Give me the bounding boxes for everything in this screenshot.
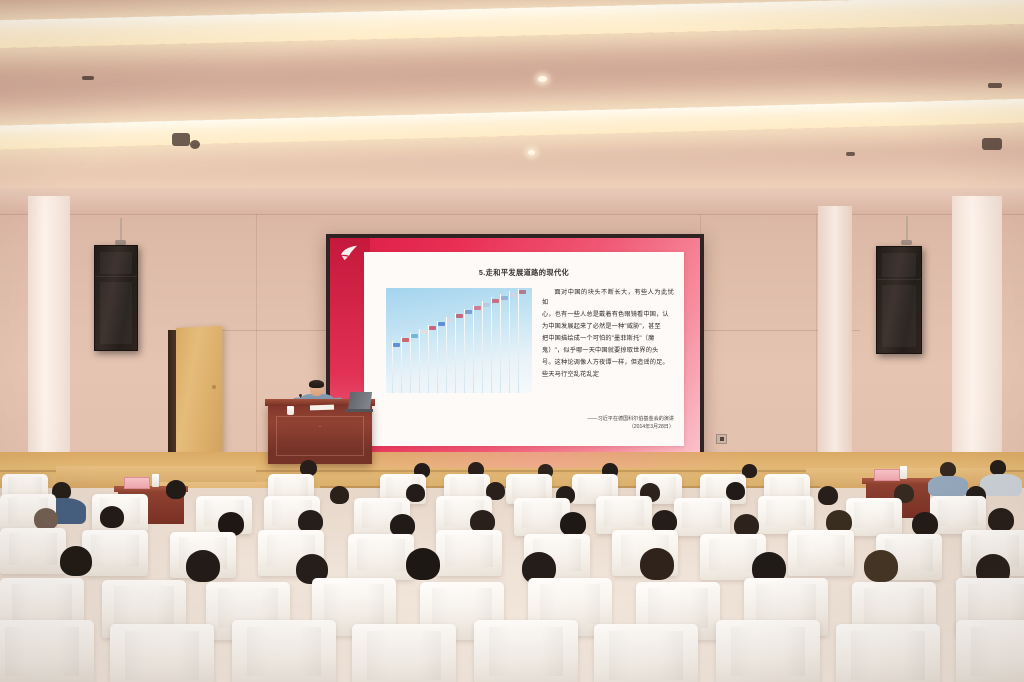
projection-screen: 5.走和平发展道路的现代化 (326, 234, 704, 464)
slide-attribution: ——习近平在德国科尔伯基金会的演讲 （2014年3月28日） (587, 415, 674, 432)
chair[interactable] (846, 498, 902, 536)
chair[interactable] (82, 530, 148, 576)
presenter-desk (268, 404, 372, 464)
wall-outlet-icon (716, 434, 727, 444)
attendee-head (186, 550, 220, 582)
slide-body-line-1: 心，也有一些人总是戴着有色眼镜看中国，认 (542, 310, 674, 320)
chair[interactable] (836, 624, 940, 682)
chair[interactable] (716, 620, 820, 682)
attendee-head (940, 462, 956, 477)
slide-content-card: 5.走和平发展道路的现代化 (364, 252, 684, 446)
laptop-base[interactable] (345, 409, 373, 412)
slide-attribution-source: ——习近平在德国科尔伯基金会的演讲 (587, 415, 674, 424)
slide-attribution-date: （2014年3月28日） (587, 423, 674, 432)
conference-hall-photo: 5.走和平发展道路的现代化 (0, 0, 1024, 682)
slide-photo-flags (386, 288, 532, 393)
chair[interactable] (0, 528, 66, 574)
slide-body-line-0: 面对中国的块头不断长大，有些人为此忧如 (542, 288, 674, 307)
slide-body-line-4: 鬼）"，似乎哪一天中国就要掠取世界的头 (542, 346, 674, 356)
right-speaker-mount (901, 240, 912, 245)
slide-body-line-3: 把中国描绘成一个可怕的"墨菲斯托"（魔 (542, 334, 674, 344)
attendee-head (864, 550, 898, 582)
ceiling-light-strip-2 (0, 97, 1024, 150)
attendee-head (166, 480, 186, 499)
ceiling-fixture-right (988, 83, 1002, 88)
column-right (952, 196, 1002, 464)
attendee-shoulders (980, 474, 1022, 496)
slide-body-text: 面对中国的块头不断长大，有些人为此忧如 心，也有一些人总是戴着有色眼镜看中国，认… (542, 288, 674, 382)
chair[interactable] (110, 624, 214, 682)
ceiling-speaker-mount-right (982, 138, 1002, 150)
attendee-head (100, 506, 124, 528)
attendee-head (34, 508, 58, 530)
chair[interactable] (594, 624, 698, 682)
cup-right-desk (900, 466, 907, 479)
door-knob-icon[interactable] (212, 385, 216, 389)
column-left (28, 196, 70, 464)
attendee-head (988, 508, 1014, 532)
ceiling-camera-icon (190, 140, 200, 149)
slide-title: 5.走和平发展道路的现代化 (364, 268, 684, 278)
attendee-head (990, 460, 1006, 475)
wall-panel-line-3 (816, 214, 817, 458)
chair[interactable] (0, 620, 94, 682)
ceiling-fixture-left (82, 76, 94, 80)
chair[interactable] (956, 620, 1024, 682)
chair[interactable] (674, 498, 730, 536)
attendee-head (560, 512, 586, 536)
chair[interactable] (596, 496, 652, 534)
chair[interactable] (788, 530, 854, 576)
slide-body-line-2: 为中国发展起来了必然是一种"威胁"，甚至 (542, 322, 674, 332)
wall-seam-top (0, 214, 1024, 215)
attendee-head (406, 548, 440, 580)
chair[interactable] (348, 534, 414, 580)
wall-upper-band (0, 188, 1024, 214)
left-speaker-bracket (120, 218, 122, 242)
loudspeaker-left (94, 245, 138, 351)
chair[interactable] (758, 496, 814, 534)
wall-panel-line-1 (256, 214, 257, 454)
dove-icon (338, 244, 360, 262)
column-right-mid (818, 206, 852, 464)
chair[interactable] (352, 624, 456, 682)
desk-papers (310, 405, 334, 411)
attendee-head (640, 548, 674, 580)
slide-body-line-6: 些天马行空乱花乱定 (542, 370, 674, 380)
water-cup (287, 406, 294, 415)
attendee-head (60, 546, 92, 576)
chair[interactable] (474, 620, 578, 682)
slide-body-line-5: 号。这种论调像人方夜谭一样，但造谣的足。 (542, 358, 674, 368)
stage-door[interactable] (176, 326, 222, 454)
chair[interactable] (436, 530, 502, 576)
namecard-right (874, 469, 900, 481)
ceiling-projector-mount (172, 133, 190, 146)
desk-panel (276, 416, 364, 456)
right-speaker-bracket (906, 216, 908, 242)
loudspeaker-right (876, 246, 922, 354)
attendee-shoulders (928, 476, 968, 496)
chair[interactable] (930, 496, 986, 534)
ceiling-light-strip-1 (0, 0, 1024, 49)
slide-canvas: 5.走和平发展道路的现代化 (330, 238, 700, 460)
presenter-hair (309, 380, 324, 388)
attendee-head (726, 482, 745, 500)
laptop-screen[interactable] (348, 392, 372, 410)
ceiling (0, 0, 1024, 196)
ceiling-downlight-center (538, 76, 547, 82)
attendee-head (330, 486, 349, 504)
chair[interactable] (232, 620, 336, 682)
attendee-head (912, 512, 938, 536)
attendee-head (818, 486, 838, 505)
